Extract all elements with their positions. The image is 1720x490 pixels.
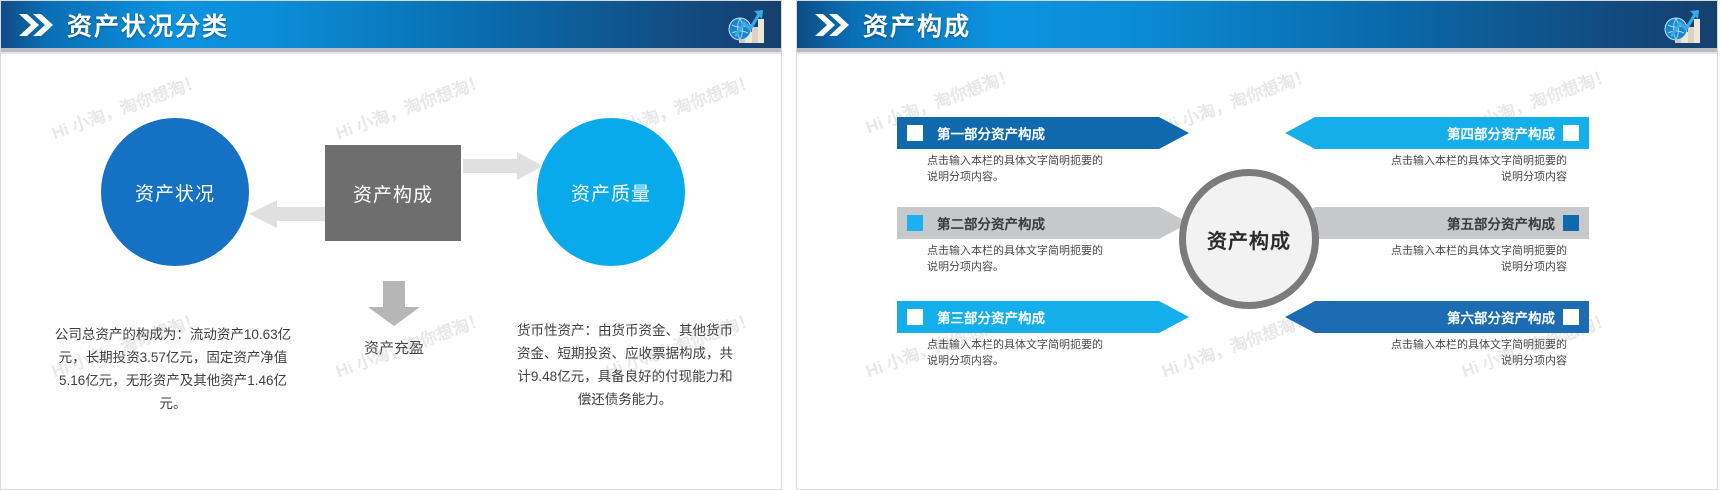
slide-asset-status-classification: 资产状况分类 Hi 小淘，淘你想淘！ Hi 小淘，淘你想淘！ Hi 小淘，淘你想… [0,0,782,490]
item-title-1: 第一部分资产构成 [937,123,1045,143]
item-title-6: 第六部分资产构成 [1447,307,1555,327]
item-body-2: 点击输入本栏的具体文字简明扼要的说明分项内容。 [927,243,1103,275]
asset-quality-circle[interactable]: 资产质量 [537,118,685,266]
item-title-5: 第五部分资产构成 [1447,213,1555,233]
asset-quality-label: 资产质量 [571,179,651,206]
watermark: Hi 小淘，淘你想淘！ [331,67,488,144]
paragraph-monetary-assets: 货币性资产：由货币资金、其他货币资金、短期投资、应收票据构成，共计9.48亿元，… [513,319,737,411]
double-chevron-right-icon [17,12,57,38]
item-title-3: 第三部分资产构成 [937,307,1045,327]
item-body-3: 点击输入本栏的具体文字简明扼要的说明分项内容。 [927,337,1103,369]
page-title: 资产状况分类 [67,7,229,43]
center-circle[interactable]: 资产构成 [1179,169,1319,309]
item-title-2: 第二部分资产构成 [937,213,1045,233]
arrow-down-icon [366,281,422,332]
slide-header-left: 资产状况分类 [1,1,781,48]
item-nub-6 [1563,309,1579,325]
asset-status-label: 资产状况 [135,179,215,206]
asset-composition-box[interactable]: 资产构成 [325,145,461,241]
item-banner-6[interactable]: 第六部分资产构成 [1285,301,1589,333]
arrow-left-icon [247,199,331,234]
slide-pair: 资产状况分类 Hi 小淘，淘你想淘！ Hi 小淘，淘你想淘！ Hi 小淘，淘你想… [0,0,1720,490]
slide-divider [782,0,796,490]
slide-header-right: 资产构成 [797,1,1717,48]
item-title-4: 第四部分资产构成 [1447,123,1555,143]
item-body-5: 点击输入本栏的具体文字简明扼要的说明分项内容 [1387,243,1567,275]
globe-growth-chart-icon [1661,5,1707,45]
item-banner-3[interactable]: 第三部分资产构成 [897,301,1189,333]
paragraph-total-assets: 公司总资产的构成为：流动资产10.63亿元，长期投资3.57亿元，固定资产净值5… [53,323,293,415]
item-nub-1 [907,125,923,141]
asset-composition-label: 资产构成 [353,180,433,207]
item-banner-1[interactable]: 第一部分资产构成 [897,117,1189,149]
item-banner-4[interactable]: 第四部分资产构成 [1285,117,1589,149]
double-chevron-right-icon [813,12,853,38]
item-nub-4 [1563,125,1579,141]
page-title: 资产构成 [863,7,971,43]
asset-sufficiency-label: 资产充盈 [327,337,461,358]
globe-growth-chart-icon [725,5,771,45]
slide-asset-composition: 资产构成 Hi 小淘，淘你想淘！ Hi 小淘，淘你想淘！ Hi 小淘，淘你想淘！ [796,0,1718,490]
item-nub-3 [907,309,923,325]
asset-status-circle[interactable]: 资产状况 [101,118,249,266]
item-body-4: 点击输入本栏的具体文字简明扼要的说明分项内容 [1387,153,1567,185]
arrow-right-icon [463,151,545,186]
item-nub-5 [1563,215,1579,231]
header-underline-light [797,52,1717,54]
item-body-6: 点击输入本栏的具体文字简明扼要的说明分项内容 [1387,337,1567,369]
header-underline-light [1,52,781,54]
center-circle-label: 资产构成 [1207,225,1291,254]
item-banner-5[interactable]: 第五部分资产构成 [1285,207,1589,239]
item-banner-2[interactable]: 第二部分资产构成 [897,207,1189,239]
item-nub-2 [907,215,923,231]
item-body-1: 点击输入本栏的具体文字简明扼要的说明分项内容。 [927,153,1103,185]
